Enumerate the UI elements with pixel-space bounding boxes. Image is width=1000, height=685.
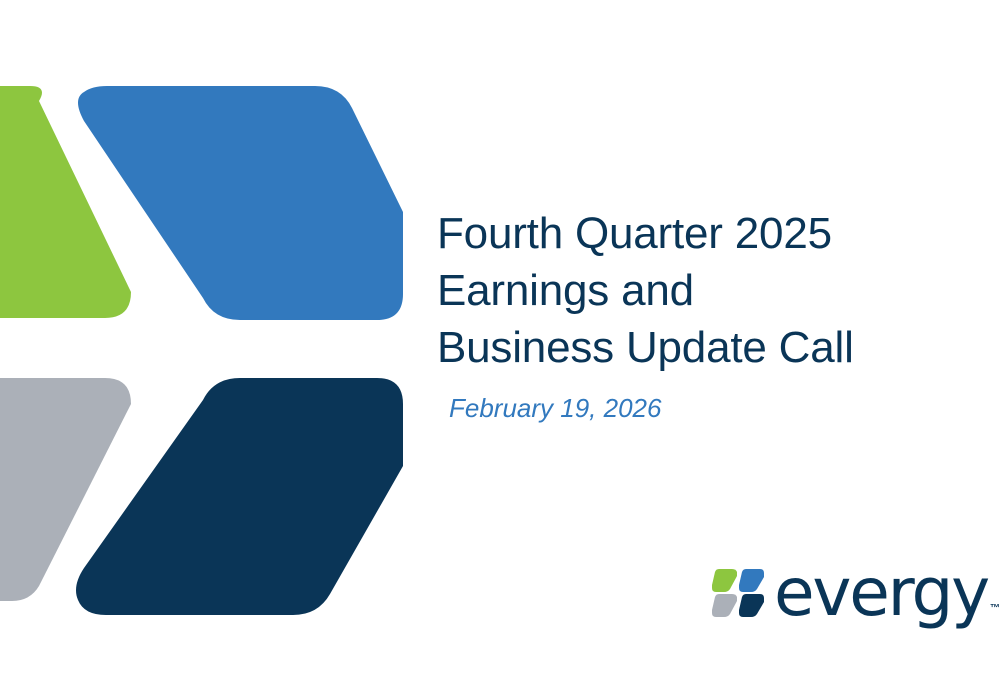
navy-parallelogram-shape <box>76 378 403 615</box>
slide-canvas: Fourth Quarter 2025 Earnings and Busines… <box>0 0 1000 685</box>
title-block: Fourth Quarter 2025 Earnings and Busines… <box>437 205 977 424</box>
page-title-line-3: Business Update Call <box>437 319 977 376</box>
logo-mark-gray-shape <box>712 594 737 617</box>
evergy-logo-mark-icon <box>712 567 768 619</box>
page-title-line-1: Fourth Quarter 2025 <box>437 205 977 262</box>
blue-parallelogram-shape <box>78 86 403 320</box>
evergy-wordmark: evergy ™ <box>774 560 1000 626</box>
evergy-wordmark-text: evergy <box>774 560 988 626</box>
logo-mark-navy-shape <box>739 594 764 617</box>
logo-mark-blue-shape <box>739 569 764 592</box>
page-title-line-2: Earnings and <box>437 262 977 319</box>
presentation-date: February 19, 2026 <box>449 392 977 424</box>
gray-parallelogram-shape <box>0 378 131 601</box>
logo-mark-green-shape <box>712 569 737 592</box>
trademark-symbol: ™ <box>990 604 1000 614</box>
evergy-logo: evergy ™ <box>712 556 952 630</box>
green-parallelogram-shape <box>0 86 131 318</box>
